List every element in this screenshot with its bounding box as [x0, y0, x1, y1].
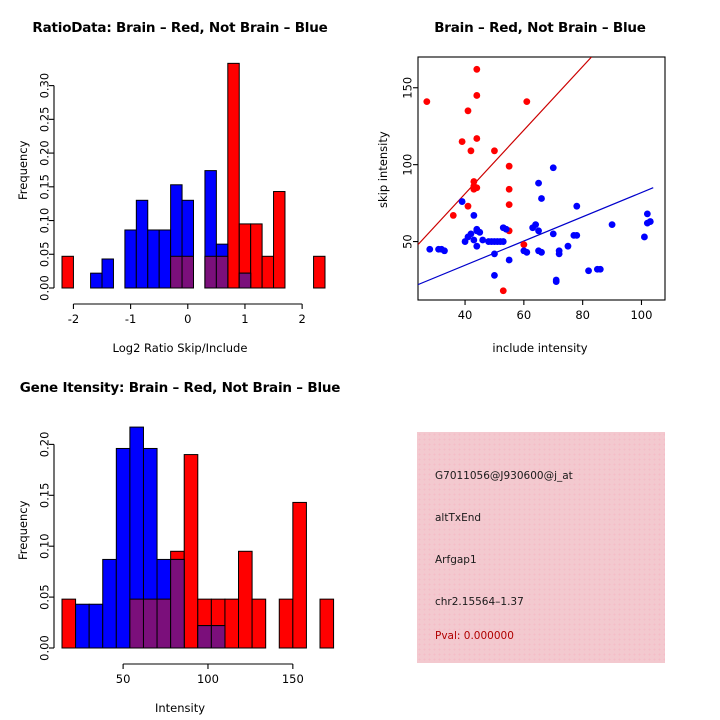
y-tick-label: 0.05 [38, 584, 52, 610]
x-tick-label: 100 [197, 672, 219, 686]
histogram-bar-red [293, 502, 307, 648]
scatter-point-blue [550, 164, 557, 171]
x-tick-label: 2 [298, 312, 305, 326]
scatter-point-red [423, 98, 430, 105]
histogram-bar-red [239, 551, 253, 648]
scatter-point-blue [573, 203, 580, 210]
scatter-point-blue [556, 247, 563, 254]
histogram-bar-overlap [171, 256, 182, 288]
scatter-point-red [459, 138, 466, 145]
scatter-point-blue [491, 250, 498, 257]
ratio-histogram-ylabel: Frequency [16, 141, 30, 200]
histogram-bar-overlap [211, 626, 225, 648]
histogram-bar-red [62, 599, 76, 648]
x-tick-label: 100 [630, 308, 652, 322]
histogram-bar-blue [89, 604, 103, 648]
y-tick-label: 0.15 [38, 174, 52, 200]
histogram-bar-blue [103, 559, 117, 648]
histogram-bar-overlap [216, 256, 227, 288]
y-tick-label: 0.30 [38, 73, 52, 99]
histogram-bar-overlap [171, 559, 185, 648]
info-line-probe-id: G7011056@J930600@j_at [435, 470, 573, 482]
regression-line-red-fit [418, 57, 591, 245]
ratio-histogram-plot: 0.000.050.100.150.200.250.30-2-1012 [0, 0, 360, 360]
y-tick-label: 0.20 [38, 432, 52, 458]
scatter-point-blue [529, 224, 536, 231]
scatter-point-blue [491, 272, 498, 279]
info-line-gene-symbol: Arfgap1 [435, 554, 477, 566]
scatter-point-red [470, 186, 477, 193]
scatter-point-blue [570, 232, 577, 239]
histogram-bar-blue [159, 230, 170, 288]
x-tick-label: 40 [458, 308, 473, 322]
scatter-point-red [473, 135, 480, 142]
regression-line-blue-fit [418, 188, 653, 285]
scatter-title: Brain – Red, Not Brain – Blue [360, 20, 720, 36]
histogram-bar-blue [102, 259, 113, 288]
x-tick-label: 150 [282, 672, 304, 686]
histogram-bar-blue [116, 448, 130, 648]
y-tick-label: 0.10 [38, 208, 52, 234]
scatter-ylabel: skip intensity [376, 131, 390, 208]
ratio-histogram-xlabel: Log2 Ratio Skip/Include [0, 341, 360, 355]
scatter-point-blue [426, 246, 433, 253]
histogram-bar-red [62, 256, 73, 288]
scatter-point-red [450, 212, 457, 219]
scatter-point-blue [535, 180, 542, 187]
ratio-histogram-panel: RatioData: Brain – Red, Not Brain – Blue… [0, 0, 360, 360]
scatter-point-blue [553, 278, 560, 285]
histogram-bar-blue [125, 230, 136, 288]
histogram-bar-overlap [205, 256, 216, 288]
histogram-bar-overlap [143, 599, 157, 648]
scatter-panel: Brain – Red, Not Brain – Blue skip inten… [360, 0, 720, 360]
ratio-histogram-title: RatioData: Brain – Red, Not Brain – Blue [0, 20, 360, 36]
y-tick-label: 0.20 [38, 140, 52, 166]
y-tick-label: 0.05 [38, 241, 52, 267]
gene-histogram-panel: Gene Itensity: Brain – Red, Not Brain – … [0, 360, 360, 720]
scatter-point-red [506, 201, 513, 208]
scatter-point-red [465, 203, 472, 210]
y-tick-label: 50 [401, 234, 415, 249]
scatter-point-red [500, 287, 507, 294]
histogram-bar-red [279, 599, 293, 648]
scatter-point-red [506, 186, 513, 193]
scatter-point-red [520, 241, 527, 248]
histogram-bar-blue [136, 200, 147, 288]
scatter-point-blue [470, 237, 477, 244]
gene-histogram-xlabel: Intensity [0, 701, 360, 715]
scatter-point-blue [644, 220, 651, 227]
scatter-point-blue [538, 195, 545, 202]
scatter-point-blue [441, 247, 448, 254]
histogram-bar-red [314, 256, 325, 288]
x-tick-label: -1 [125, 312, 136, 326]
scatter-point-blue [470, 212, 477, 219]
histogram-bar-blue [76, 604, 90, 648]
scatter-point-blue [479, 237, 486, 244]
scatter-point-blue [585, 267, 592, 274]
gene-histogram-ylabel: Frequency [16, 501, 30, 560]
scatter-point-blue [459, 198, 466, 205]
histogram-bar-blue [91, 273, 102, 288]
x-tick-label: 50 [116, 672, 131, 686]
scatter-point-red [506, 163, 513, 170]
scatter-point-blue [550, 230, 557, 237]
panel-texture [417, 432, 665, 663]
y-tick-label: 0.00 [38, 635, 52, 661]
scatter-point-blue [503, 226, 510, 233]
info-line-event-type: altTxEnd [435, 512, 481, 524]
scatter-point-blue [506, 257, 513, 264]
scatter-point-red [491, 147, 498, 154]
histogram-bar-red [274, 192, 285, 288]
histogram-bar-blue [148, 230, 159, 288]
histogram-bar-red [320, 599, 334, 648]
scatter-point-blue [535, 227, 542, 234]
gene-histogram-plot: 0.000.050.100.150.2050100150 [0, 360, 360, 720]
plot-area: 0.000.050.100.150.2050100150 [38, 427, 334, 686]
histogram-bar-red [184, 455, 198, 648]
histogram-bar-red [262, 256, 273, 288]
scatter-point-red [473, 92, 480, 99]
scatter-point-red [468, 147, 475, 154]
plot-area: 0.000.050.100.150.200.250.30-2-1012 [38, 63, 326, 326]
histogram-bar-red [225, 599, 239, 648]
scatter-point-blue [594, 266, 601, 273]
histogram-bar-red [228, 63, 239, 288]
y-tick-label: 100 [401, 154, 415, 176]
x-tick-label: 60 [517, 308, 532, 322]
scatter-plot: 50100150406080100 [360, 0, 720, 360]
histogram-bar-overlap [239, 273, 250, 288]
plot-inner [418, 57, 654, 294]
plot-frame [418, 57, 665, 300]
info-line-locus: chr2.15564–1.37 [435, 596, 524, 608]
scatter-point-blue [473, 243, 480, 250]
gene-info-panel: G7011056@J930600@j_at altTxEnd Arfgap1 c… [417, 432, 665, 663]
histogram-bar-overlap [182, 256, 193, 288]
histogram-bar-red [252, 599, 266, 648]
scatter-point-blue [476, 229, 483, 236]
scatter-point-blue [500, 238, 507, 245]
scatter-point-blue [641, 234, 648, 241]
scatter-point-blue [609, 221, 616, 228]
scatter-point-blue [538, 249, 545, 256]
y-tick-label: 0.00 [38, 275, 52, 301]
scatter-point-blue [644, 210, 651, 217]
scatter-point-blue [565, 243, 572, 250]
scatter-point-red [523, 98, 530, 105]
scatter-point-red [473, 66, 480, 73]
x-tick-label: 0 [184, 312, 191, 326]
gene-histogram-title: Gene Itensity: Brain – Red, Not Brain – … [0, 380, 360, 396]
scatter-point-blue [462, 238, 469, 245]
scatter-point-blue [523, 249, 530, 256]
y-tick-label: 150 [401, 77, 415, 99]
x-tick-label: 80 [575, 308, 590, 322]
histogram-bar-overlap [198, 626, 212, 648]
y-tick-label: 0.25 [38, 107, 52, 133]
histogram-bar-overlap [157, 599, 171, 648]
histogram-bar-overlap [130, 599, 144, 648]
info-line-pval: Pval: 0.000000 [435, 630, 514, 642]
scatter-xlabel: include intensity [360, 341, 720, 355]
y-tick-label: 0.15 [38, 482, 52, 508]
scatter-point-red [465, 107, 472, 114]
y-tick-label: 0.10 [38, 533, 52, 559]
histogram-bar-red [251, 224, 262, 288]
x-tick-label: -2 [68, 312, 79, 326]
x-tick-label: 1 [241, 312, 248, 326]
plot-area: 50100150406080100 [401, 57, 666, 322]
